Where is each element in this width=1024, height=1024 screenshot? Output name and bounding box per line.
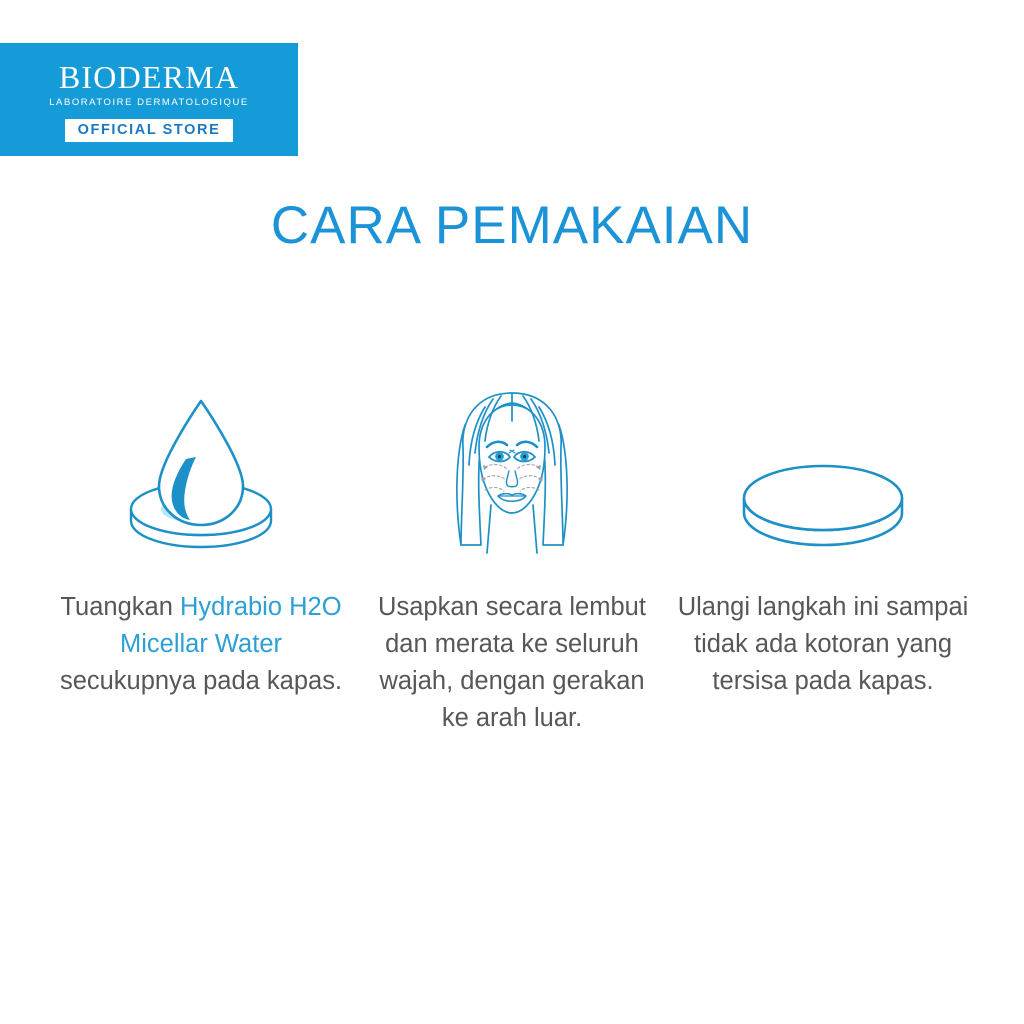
water-drop-on-cotton-pad-icon (101, 385, 301, 560)
step-3: Ulangi langkah ini sampai tidak ada koto… (668, 385, 979, 700)
step-3-icon-wrap (723, 385, 923, 560)
step-3-caption: Ulangi langkah ini sampai tidak ada koto… (668, 589, 979, 700)
step-2: Usapkan secara lembut dan merata ke selu… (357, 385, 668, 737)
step-1: Tuangkan Hydrabio H2O Micellar Water sec… (46, 385, 357, 700)
steps-row: Tuangkan Hydrabio H2O Micellar Water sec… (0, 385, 1024, 737)
cotton-pad-icon (723, 385, 923, 560)
step-1-icon-wrap (101, 385, 301, 560)
step-1-caption: Tuangkan Hydrabio H2O Micellar Water sec… (46, 589, 357, 700)
brand-tagline: LABORATOIRE DERMATOLOGIQUE (49, 98, 249, 108)
step-3-caption-part1: Ulangi langkah ini sampai tidak ada koto… (678, 593, 969, 695)
brand-wordmark: BIODERMA (59, 61, 239, 93)
step-2-caption-part1: Usapkan secara lembut dan merata ke selu… (378, 593, 646, 732)
step-1-caption-part2: secukupnya pada kapas. (60, 667, 342, 695)
step-1-caption-part1: Tuangkan (60, 593, 180, 621)
official-store-badge: OFFICIAL STORE (65, 119, 234, 143)
step-2-icon-wrap (427, 385, 597, 560)
step-2-caption: Usapkan secara lembut dan merata ke selu… (357, 589, 668, 737)
page-title: CARA PEMAKAIAN (0, 199, 1024, 252)
woman-face-outward-motion-icon (427, 385, 597, 560)
brand-banner: BIODERMA LABORATOIRE DERMATOLOGIQUE OFFI… (0, 43, 298, 156)
